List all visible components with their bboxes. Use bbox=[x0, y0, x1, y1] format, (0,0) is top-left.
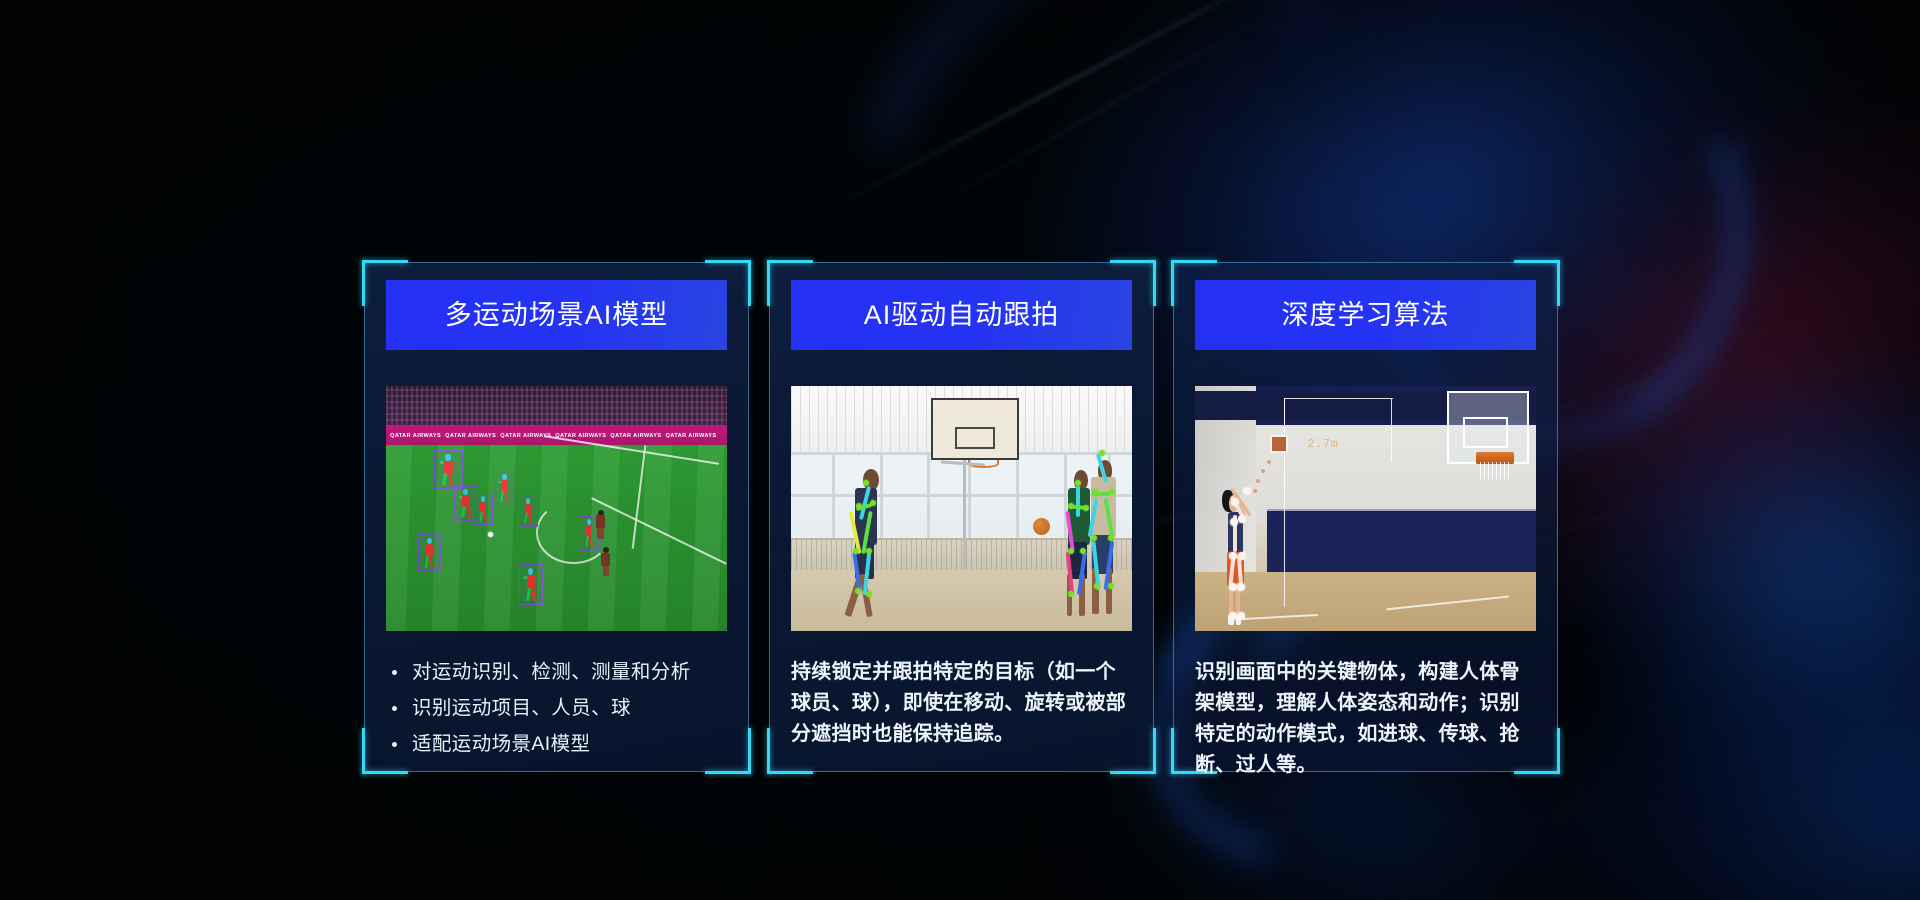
card-header-bar: 多运动场景AI模型 bbox=[386, 280, 727, 350]
hoop-support-pole bbox=[963, 460, 966, 570]
pose-skeleton bbox=[1081, 462, 1129, 614]
list-item: 对运动识别、检测、测量和分析 bbox=[386, 657, 727, 687]
shooting-player bbox=[1215, 484, 1263, 626]
pitch-line-3 bbox=[591, 498, 727, 566]
detection-box bbox=[579, 516, 599, 551]
card-body: 持续锁定并跟拍特定的目标（如一个球员、球），即使在移动、旋转或被部分遮挡时也能保… bbox=[791, 657, 1132, 750]
sponsor-banner-text-2: QATAR AIRWAYS bbox=[441, 433, 496, 439]
card-description: 识别画面中的关键物体，构建人体骨架模型，理解人体姿态和动作；识别特定的动作模式，… bbox=[1195, 657, 1536, 781]
gym-pose-tracking-image bbox=[791, 386, 1132, 631]
card-body: 对运动识别、检测、测量和分析 识别运动项目、人员、球 适配运动场景AI模型 bbox=[386, 657, 727, 759]
card-description: 持续锁定并跟拍特定的目标（如一个球员、球），即使在移动、旋转或被部分遮挡时也能保… bbox=[791, 657, 1132, 750]
basketball-backboard bbox=[931, 398, 1020, 459]
penalty-arc bbox=[536, 501, 611, 564]
card-title: 多运动场景AI模型 bbox=[445, 302, 669, 329]
feature-card-multi-sport-ai-model[interactable]: 多运动场景AI模型 QATAR AIRWAYS QATAR AIRWAYS QA… bbox=[364, 262, 749, 772]
shot-trajectory-image: 2.7m bbox=[1195, 386, 1536, 631]
card-content: 多运动场景AI模型 QATAR AIRWAYS QATAR AIRWAYS QA… bbox=[386, 280, 727, 754]
detection-box bbox=[519, 495, 538, 527]
feature-card-deep-learning-algorithm[interactable]: 深度学习算法 2. bbox=[1173, 262, 1558, 772]
list-item: 适配运动场景AI模型 bbox=[386, 729, 727, 759]
trajectory-point bbox=[1256, 479, 1260, 483]
sponsor-banner: QATAR AIRWAYS QATAR AIRWAYS QATAR AIRWAY… bbox=[386, 425, 727, 446]
basketball-net bbox=[1480, 462, 1511, 479]
sponsor-banner-text-6: QATAR AIRWAYS bbox=[661, 433, 716, 439]
ball-measure-box bbox=[1270, 435, 1288, 453]
detection-box bbox=[493, 471, 515, 506]
card-content: 深度学习算法 2. bbox=[1195, 280, 1536, 754]
measure-label: 2.7m bbox=[1308, 437, 1339, 451]
soccer-pitch bbox=[386, 445, 727, 631]
card-title: 深度学习算法 bbox=[1282, 302, 1450, 329]
tracking-drop-line bbox=[1391, 398, 1392, 462]
undetected-player bbox=[592, 510, 609, 540]
sponsor-banner-text-3: QATAR AIRWAYS bbox=[496, 433, 551, 439]
card-title: AI驱动自动跟拍 bbox=[864, 302, 1060, 329]
card-header-bar: 深度学习算法 bbox=[1195, 280, 1536, 350]
card-body: 识别画面中的关键物体，构建人体骨架模型，理解人体姿态和动作；识别特定的动作模式，… bbox=[1195, 657, 1536, 781]
feature-card-ai-auto-tracking[interactable]: AI驱动自动跟拍 bbox=[769, 262, 1154, 772]
soccer-ball bbox=[488, 532, 493, 537]
pitch-line-1 bbox=[632, 445, 647, 549]
feature-bullet-list: 对运动识别、检测、测量和分析 识别运动项目、人员、球 适配运动场景AI模型 bbox=[386, 657, 727, 759]
soccer-detection-image: QATAR AIRWAYS QATAR AIRWAYS QATAR AIRWAY… bbox=[386, 386, 727, 631]
card-content: AI驱动自动跟拍 bbox=[791, 280, 1132, 754]
detection-box bbox=[473, 493, 493, 525]
undetected-player bbox=[597, 547, 614, 577]
card-header-bar: AI驱动自动跟拍 bbox=[791, 280, 1132, 350]
tracking-guide-lines bbox=[1284, 398, 1393, 467]
feature-card-group: 多运动场景AI模型 QATAR AIRWAYS QATAR AIRWAYS QA… bbox=[0, 0, 1920, 900]
sponsor-banner-text-5: QATAR AIRWAYS bbox=[606, 433, 661, 439]
trajectory-point bbox=[1267, 460, 1271, 464]
detection-box bbox=[434, 450, 463, 489]
list-item: 识别运动项目、人员、球 bbox=[386, 693, 727, 723]
detection-box bbox=[454, 486, 478, 521]
trajectory-point bbox=[1261, 469, 1265, 473]
detection-box bbox=[519, 564, 543, 605]
tracking-vertical-line bbox=[1284, 398, 1285, 606]
court-wall-padding bbox=[1267, 509, 1536, 573]
pose-skeleton bbox=[842, 474, 890, 616]
sponsor-banner-text: QATAR AIRWAYS bbox=[386, 433, 441, 439]
detection-box bbox=[418, 534, 440, 571]
